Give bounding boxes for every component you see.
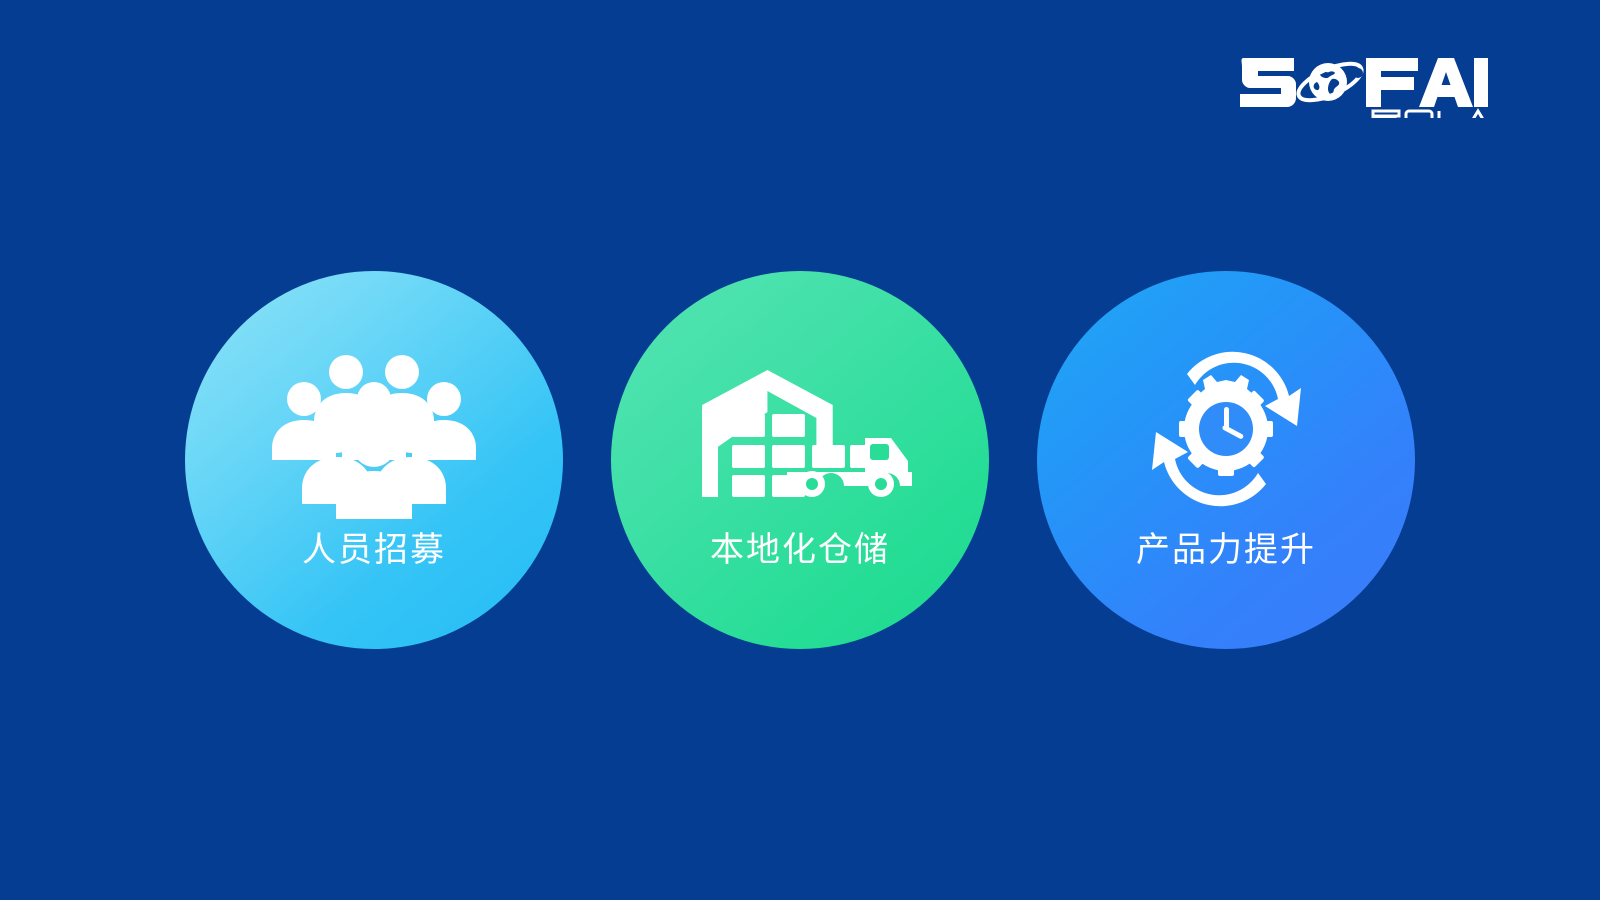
feature-circle-label: 产品力提升 xyxy=(1136,533,1316,567)
feature-circle-label: 人员招募 xyxy=(302,533,446,567)
wordmark-sofar-shapes xyxy=(1240,58,1488,107)
feature-circle-localized-warehousing[interactable]: 本地化仓储 xyxy=(611,271,989,649)
slide-canvas: 人员招募 xyxy=(0,0,1600,900)
feature-circle-label: 本地化仓储 xyxy=(710,533,890,567)
wordmark-solar-shapes xyxy=(1371,111,1488,118)
feature-circle-row: 人员招募 xyxy=(0,271,1600,651)
feature-circle-personnel-recruitment[interactable]: 人员招募 xyxy=(185,271,563,649)
gear-clock-cycle-arrows-icon xyxy=(1119,349,1334,509)
feature-circle-product-capability[interactable]: 产品力提升 xyxy=(1037,271,1415,649)
warehouse-with-truck-icon xyxy=(693,349,908,509)
globe-with-orbit-ring-icon xyxy=(1294,56,1367,107)
group-of-people-icon xyxy=(267,349,482,509)
sofar-solar-logo xyxy=(1238,48,1488,118)
